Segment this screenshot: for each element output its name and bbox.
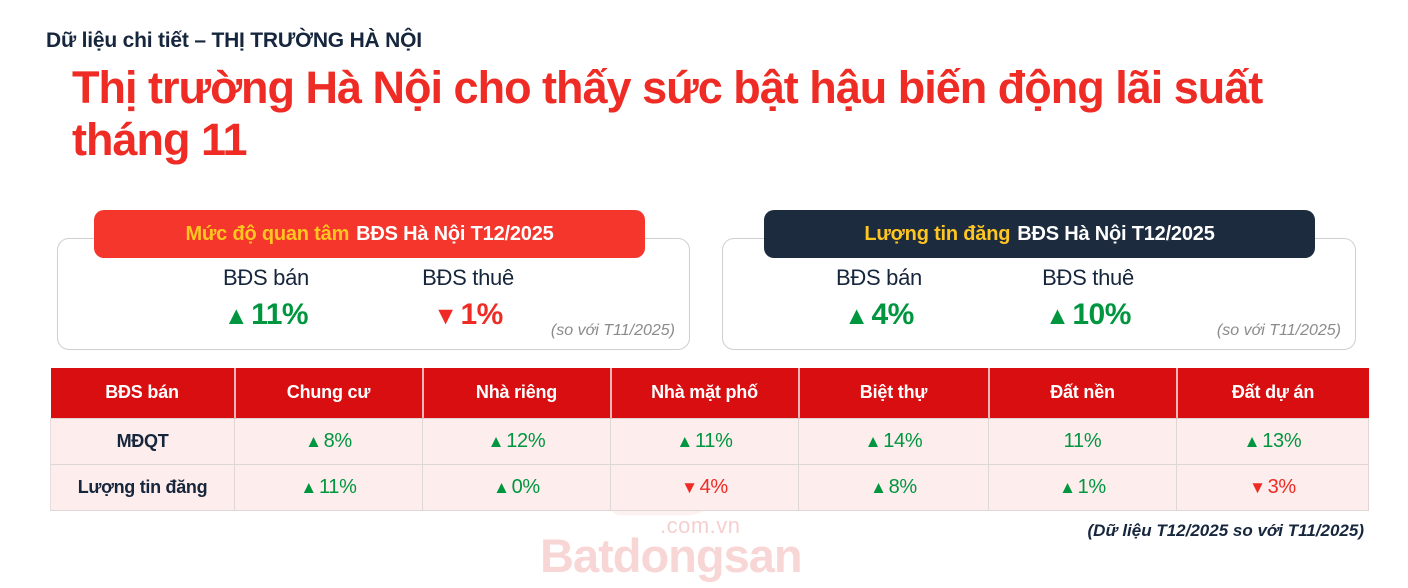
- table-cell-value: 11%: [319, 476, 357, 498]
- table-cell-value: 4%: [700, 476, 728, 498]
- stat-value: ▲4%: [789, 296, 969, 335]
- table-row-label: Lượng tin đăng: [51, 464, 235, 510]
- page-title: Thị trường Hà Nội cho thấy sức bật hậu b…: [72, 62, 1332, 166]
- stat-label: BĐS bán: [789, 265, 969, 291]
- stat-label: BĐS thuê: [378, 265, 558, 291]
- table-cell: ▼3%: [1177, 464, 1369, 510]
- table-row: MĐQT▲8%▲12%▲11%▲14%11%▲13%: [51, 418, 1369, 464]
- stat-value: ▲10%: [998, 296, 1178, 335]
- stat-number: 11%: [251, 298, 308, 331]
- table-cell-value: 11%: [1064, 430, 1102, 452]
- stat-thue-luong-tin-dang: BĐS thuê ▲10%: [998, 265, 1178, 335]
- table-row-label: MĐQT: [51, 418, 235, 464]
- table-cell: 11%: [989, 418, 1177, 464]
- stat-value: ▲11%: [176, 296, 356, 335]
- triangle-up-icon: ▲: [1059, 478, 1076, 497]
- table-cell-value: 0%: [512, 476, 540, 498]
- card-note: (so với T11/2025): [551, 322, 675, 340]
- watermark-domain: .com.vn: [660, 513, 741, 539]
- triangle-up-icon: ▲: [224, 302, 248, 330]
- card-badge-muc-do-quan-tam: Mức độ quan tâm BĐS Hà Nội T12/2025: [94, 210, 645, 258]
- table-cell-value: 3%: [1268, 476, 1296, 498]
- card-badge-rest: BĐS Hà Nội T12/2025: [1017, 223, 1214, 246]
- triangle-down-icon: ▼: [1249, 478, 1266, 497]
- table-cell: ▲14%: [799, 418, 989, 464]
- card-badge-emphasis: Mức độ quan tâm: [185, 223, 349, 246]
- table-cell: ▲8%: [799, 464, 989, 510]
- table-cell: ▲0%: [423, 464, 611, 510]
- table-cell-value: 14%: [883, 430, 922, 452]
- stat-value: ▼1%: [378, 296, 558, 335]
- footnote: (Dữ liệu T12/2025 so với T11/2025): [1088, 521, 1364, 541]
- watermark-brand: Batdongsan: [540, 528, 802, 583]
- stat-thue-muc-do-quan-tam: BĐS thuê ▼1%: [378, 265, 558, 335]
- triangle-up-icon: ▲: [488, 432, 505, 451]
- stat-ban-muc-do-quan-tam: BĐS bán ▲11%: [176, 265, 356, 335]
- stat-number: 10%: [1072, 298, 1131, 331]
- triangle-up-icon: ▲: [870, 478, 887, 497]
- table-col-header: BĐS bán: [51, 368, 235, 418]
- table-cell: ▲11%: [235, 464, 423, 510]
- card-muc-do-quan-tam: Mức độ quan tâm BĐS Hà Nội T12/2025 BĐS …: [57, 238, 690, 350]
- table-col-header: Biệt thự: [799, 368, 989, 418]
- card-note: (so với T11/2025): [1217, 322, 1341, 340]
- table-cell: ▲12%: [423, 418, 611, 464]
- triangle-up-icon: ▲: [844, 302, 868, 330]
- table-cell-value: 8%: [324, 430, 352, 452]
- triangle-up-icon: ▲: [676, 432, 693, 451]
- stat-number: 4%: [871, 298, 913, 331]
- stat-label: BĐS bán: [176, 265, 356, 291]
- stat-ban-luong-tin-dang: BĐS bán ▲4%: [789, 265, 969, 335]
- comparison-table: BĐS bán Chung cư Nhà riêng Nhà mặt phố B…: [50, 368, 1369, 511]
- infographic-root: .com.vn Batdongsan Dữ liệu chi tiết – TH…: [0, 0, 1408, 588]
- table-row: Lượng tin đăng▲11%▲0%▼4%▲8%▲1%▼3%: [51, 464, 1369, 510]
- stat-number: 1%: [460, 298, 502, 331]
- table-header-row: BĐS bán Chung cư Nhà riêng Nhà mặt phố B…: [51, 368, 1369, 418]
- triangle-up-icon: ▲: [865, 432, 882, 451]
- table-cell-value: 13%: [1262, 430, 1301, 452]
- triangle-down-icon: ▼: [433, 302, 457, 330]
- table-col-header: Nhà riêng: [423, 368, 611, 418]
- table-cell: ▼4%: [611, 464, 799, 510]
- table-col-header: Nhà mặt phố: [611, 368, 799, 418]
- triangle-up-icon: ▲: [300, 478, 317, 497]
- table-cell-value: 1%: [1078, 476, 1106, 498]
- kicker-text: Dữ liệu chi tiết – THỊ TRƯỜNG HÀ NỘI: [46, 29, 422, 53]
- table-col-header: Đất nền: [989, 368, 1177, 418]
- triangle-up-icon: ▲: [1244, 432, 1261, 451]
- table-cell: ▲11%: [611, 418, 799, 464]
- card-badge-rest: BĐS Hà Nội T12/2025: [356, 223, 553, 246]
- table-col-header: Đất dự án: [1177, 368, 1369, 418]
- triangle-up-icon: ▲: [493, 478, 510, 497]
- table-cell: ▲8%: [235, 418, 423, 464]
- table-cell-value: 12%: [506, 430, 545, 452]
- card-badge-emphasis: Lượng tin đăng: [864, 223, 1010, 246]
- table-cell-value: 8%: [889, 476, 917, 498]
- table-cell-value: 11%: [695, 430, 733, 452]
- table-cell: ▲13%: [1177, 418, 1369, 464]
- card-luong-tin-dang: Lượng tin đăng BĐS Hà Nội T12/2025 BĐS b…: [722, 238, 1356, 350]
- stat-label: BĐS thuê: [998, 265, 1178, 291]
- table-cell: ▲1%: [989, 464, 1177, 510]
- card-badge-luong-tin-dang: Lượng tin đăng BĐS Hà Nội T12/2025: [764, 210, 1315, 258]
- table-col-header: Chung cư: [235, 368, 423, 418]
- triangle-up-icon: ▲: [305, 432, 322, 451]
- triangle-up-icon: ▲: [1045, 302, 1069, 330]
- triangle-down-icon: ▼: [681, 478, 698, 497]
